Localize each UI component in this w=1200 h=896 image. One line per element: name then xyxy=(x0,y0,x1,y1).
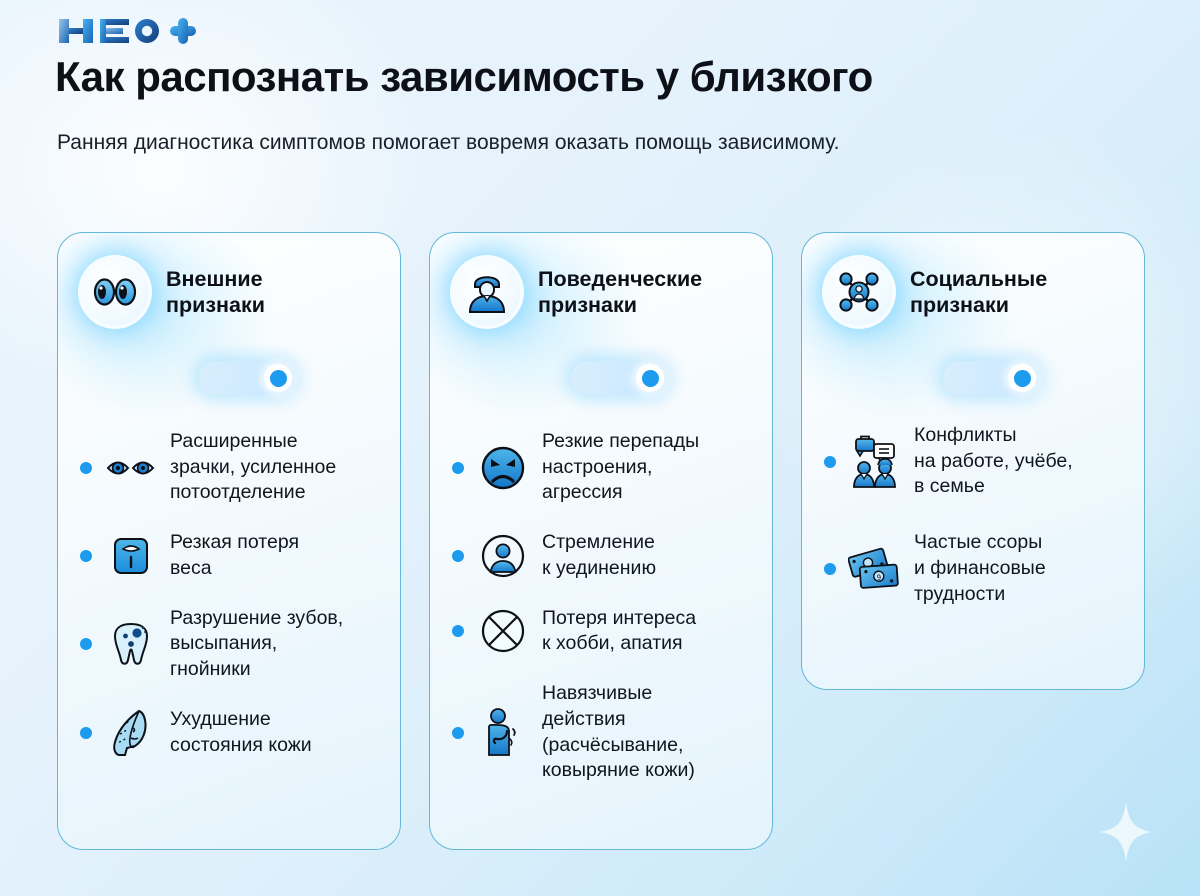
list-item-text: Навязчивые действия (расчёсывание, ковыр… xyxy=(542,681,695,784)
card-title: Социальные признаки xyxy=(910,266,1047,318)
page-title: Как распознать зависимость у близкого xyxy=(55,54,1155,99)
list-item-text: Резкие перепады настроения, агрессия xyxy=(542,429,699,506)
list-item-text: Частые ссоры и финансовые трудности xyxy=(914,530,1046,607)
list-item: Расширенные зрачки, усиленное потоотделе… xyxy=(80,429,378,506)
list-item: Потеря интереса к хобби, апатия xyxy=(452,606,750,657)
work-conflict-icon xyxy=(848,435,902,489)
bullet-icon xyxy=(80,462,92,474)
card-title: Внешние признаки xyxy=(166,266,265,318)
brand-logo[interactable] xyxy=(57,14,197,48)
crossed-circle-icon xyxy=(476,608,530,654)
list-item: Резкие перепады настроения, агрессия xyxy=(452,429,750,506)
card-list: Конфликты на работе, учёбе, в семье xyxy=(824,423,1122,607)
card-title: Поведенческие признаки xyxy=(538,266,702,318)
banknotes-icon: 9 xyxy=(848,546,902,592)
angry-face-icon xyxy=(476,445,530,491)
card-header: Поведенческие признаки xyxy=(454,259,750,325)
bullet-icon xyxy=(452,550,464,562)
card-header: Внешние признаки xyxy=(82,259,378,325)
page-subtitle: Ранняя диагностика симптомов помогает во… xyxy=(57,128,957,158)
list-item-text: Потеря интереса к хобби, апатия xyxy=(542,606,696,657)
card-list: Резкие перепады настроения, агрессия xyxy=(452,429,750,784)
card-external-signs: Внешние признаки Расширенные xyxy=(57,232,401,850)
toggle-switch-icon[interactable] xyxy=(80,361,378,395)
list-item-text: Разрушение зубов, высыпания, гнойники xyxy=(170,606,343,683)
list-item: Резкая потеря веса xyxy=(80,530,378,581)
eyes-icon xyxy=(82,259,148,325)
list-item-text: Ухудшение состояния кожи xyxy=(170,707,312,758)
toggle-switch-icon[interactable] xyxy=(824,361,1122,395)
person-avatar-icon xyxy=(454,259,520,325)
bullet-icon xyxy=(452,462,464,474)
list-item: 9 Частые ссоры и финансовые трудности xyxy=(824,530,1122,607)
bullet-icon xyxy=(80,638,92,650)
list-item: Ухудшение состояния кожи xyxy=(80,707,378,758)
cards-row: Внешние признаки Расширенные xyxy=(57,232,1147,850)
bullet-icon xyxy=(452,625,464,637)
decayed-tooth-icon xyxy=(104,620,158,668)
toggle-switch-icon[interactable] xyxy=(452,361,750,395)
user-circle-icon xyxy=(476,533,530,579)
list-item: Навязчивые действия (расчёсывание, ковыр… xyxy=(452,681,750,784)
bullet-icon xyxy=(80,550,92,562)
bullet-icon xyxy=(80,727,92,739)
list-item: Разрушение зубов, высыпания, гнойники xyxy=(80,606,378,683)
network-person-icon xyxy=(826,259,892,325)
list-item-text: Резкая потеря веса xyxy=(170,530,299,581)
card-social-signs: Социальные признаки xyxy=(801,232,1145,690)
scratching-person-icon xyxy=(476,707,530,759)
card-list: Расширенные зрачки, усиленное потоотделе… xyxy=(80,429,378,758)
neo-plus-logo-icon xyxy=(57,15,197,47)
card-behavioral-signs: Поведенческие признаки xyxy=(429,232,773,850)
bullet-icon xyxy=(824,456,836,468)
bullet-icon xyxy=(824,563,836,575)
list-item-text: Конфликты на работе, учёбе, в семье xyxy=(914,423,1073,500)
svg-text:9: 9 xyxy=(876,573,881,581)
weight-scale-icon xyxy=(104,534,158,578)
list-item: Конфликты на работе, учёбе, в семье xyxy=(824,423,1122,500)
card-header: Социальные признаки xyxy=(826,259,1122,325)
list-item-text: Стремление к уединению xyxy=(542,530,656,581)
face-skin-icon xyxy=(104,708,158,758)
bullet-icon xyxy=(452,727,464,739)
list-item-text: Расширенные зрачки, усиленное потоотделе… xyxy=(170,429,336,506)
dilated-pupils-icon xyxy=(104,455,158,481)
list-item: Стремление к уединению xyxy=(452,530,750,581)
